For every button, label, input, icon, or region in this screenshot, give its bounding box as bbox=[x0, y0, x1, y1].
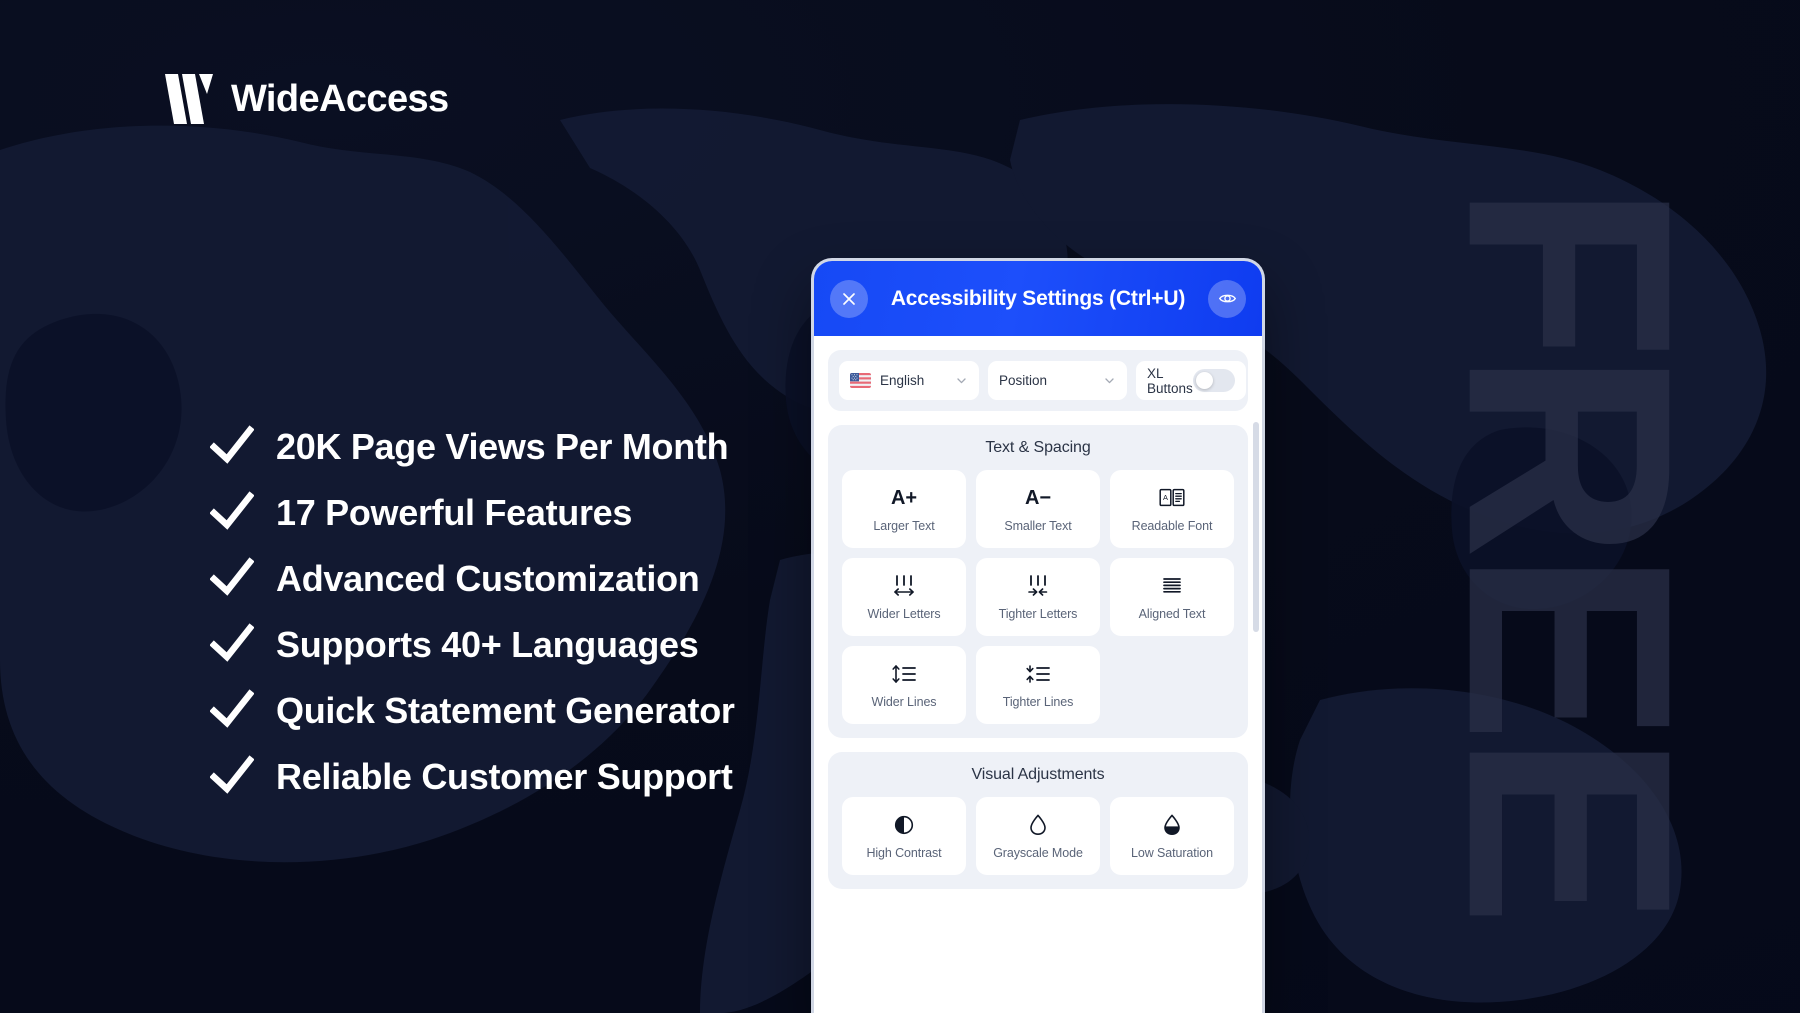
wider-letters-icon bbox=[891, 574, 917, 598]
grayscale-mode-icon bbox=[1028, 813, 1048, 837]
list-item: Reliable Customer Support bbox=[210, 753, 735, 801]
feature-label: Supports 40+ Languages bbox=[276, 624, 699, 666]
list-item: Advanced Customization bbox=[210, 555, 735, 603]
feature-label: Quick Statement Generator bbox=[276, 690, 735, 732]
tighter-lines-icon bbox=[1024, 662, 1052, 686]
tile-low-saturation[interactable]: Low Saturation bbox=[1110, 797, 1234, 875]
widget-toolbar: English Position bbox=[828, 350, 1248, 411]
tile-aligned-text[interactable]: Aligned Text bbox=[1110, 558, 1234, 636]
tile-label: Tighter Letters bbox=[999, 607, 1078, 621]
feature-label: Advanced Customization bbox=[276, 558, 699, 600]
section-title: Visual Adjustments bbox=[842, 766, 1234, 784]
check-icon bbox=[210, 425, 254, 470]
tile-label: Readable Font bbox=[1132, 519, 1213, 533]
high-contrast-icon bbox=[893, 813, 915, 837]
svg-text:A: A bbox=[1163, 493, 1168, 502]
close-icon[interactable] bbox=[830, 280, 868, 318]
free-watermark-text: FREE bbox=[1425, 183, 1715, 916]
tile-wider-letters[interactable]: Wider Letters bbox=[842, 558, 966, 636]
feature-label: Reliable Customer Support bbox=[276, 756, 733, 798]
tile-label: Aligned Text bbox=[1139, 607, 1206, 621]
widget-header: Accessibility Settings (Ctrl+U) bbox=[814, 261, 1262, 336]
position-value: Position bbox=[999, 373, 1103, 388]
wider-lines-icon bbox=[890, 662, 918, 686]
brand-lockup: WideAccess bbox=[165, 74, 449, 124]
widget-title: Accessibility Settings (Ctrl+U) bbox=[868, 287, 1208, 311]
tile-label: Wider Lines bbox=[872, 695, 937, 709]
check-icon bbox=[210, 491, 254, 536]
xl-buttons-row[interactable]: XL Buttons bbox=[1136, 361, 1246, 400]
tile-wider-lines[interactable]: Wider Lines bbox=[842, 646, 966, 724]
check-icon bbox=[210, 755, 254, 800]
xl-buttons-toggle[interactable] bbox=[1193, 369, 1235, 392]
language-value: English bbox=[880, 373, 946, 388]
widget-scrollbar[interactable] bbox=[1253, 422, 1259, 1013]
tile-label: Low Saturation bbox=[1131, 846, 1213, 860]
tile-high-contrast[interactable]: High Contrast bbox=[842, 797, 966, 875]
section-visual-adjustments: Visual Adjustments High Contrast bbox=[828, 752, 1248, 889]
accessibility-widget: Accessibility Settings (Ctrl+U) bbox=[814, 261, 1262, 1013]
language-selector[interactable]: English bbox=[839, 361, 979, 400]
tile-label: Grayscale Mode bbox=[993, 846, 1083, 860]
us-flag-icon bbox=[850, 373, 871, 388]
larger-text-icon: A+ bbox=[891, 486, 917, 510]
list-item: 20K Page Views Per Month bbox=[210, 423, 735, 471]
xl-buttons-label: XL Buttons bbox=[1147, 366, 1193, 396]
feature-label: 17 Powerful Features bbox=[276, 492, 632, 534]
aligned-text-icon bbox=[1160, 574, 1184, 598]
position-selector[interactable]: Position bbox=[988, 361, 1127, 400]
section-text-spacing: Text & Spacing A+ Larger Text A− Smaller… bbox=[828, 425, 1248, 738]
tile-grid-visual-adjustments: High Contrast Grayscale Mode bbox=[842, 797, 1234, 875]
tile-smaller-text[interactable]: A− Smaller Text bbox=[976, 470, 1100, 548]
tile-label: Tighter Lines bbox=[1003, 695, 1074, 709]
tile-larger-text[interactable]: A+ Larger Text bbox=[842, 470, 966, 548]
smaller-text-icon: A− bbox=[1025, 486, 1051, 510]
eye-icon[interactable] bbox=[1208, 280, 1246, 318]
tile-tighter-lines[interactable]: Tighter Lines bbox=[976, 646, 1100, 724]
list-item: Supports 40+ Languages bbox=[210, 621, 735, 669]
wideaccess-logo-icon bbox=[165, 74, 213, 124]
tile-label: High Contrast bbox=[866, 846, 941, 860]
chevron-down-icon bbox=[955, 374, 968, 387]
smaller-text-glyph: A− bbox=[1025, 488, 1051, 508]
tile-empty-slot bbox=[1110, 646, 1234, 724]
low-saturation-icon bbox=[1162, 813, 1182, 837]
larger-text-glyph: A+ bbox=[891, 488, 917, 508]
tile-label: Larger Text bbox=[873, 519, 934, 533]
tile-grid-text-spacing: A+ Larger Text A− Smaller Text bbox=[842, 470, 1234, 724]
tile-label: Smaller Text bbox=[1004, 519, 1071, 533]
widget-body: English Position bbox=[814, 336, 1262, 1013]
tile-tighter-letters[interactable]: Tighter Letters bbox=[976, 558, 1100, 636]
feature-list: 20K Page Views Per Month 17 Powerful Fea… bbox=[210, 423, 735, 801]
promo-banner: FREE WideAccess 20K Page Views Per Month bbox=[0, 0, 1800, 1013]
check-icon bbox=[210, 623, 254, 668]
feature-label: 20K Page Views Per Month bbox=[276, 426, 728, 468]
list-item: 17 Powerful Features bbox=[210, 489, 735, 537]
tile-label: Wider Letters bbox=[867, 607, 940, 621]
check-icon bbox=[210, 557, 254, 602]
open-book-icon: A bbox=[1159, 486, 1185, 510]
tighter-letters-icon bbox=[1025, 574, 1051, 598]
section-title: Text & Spacing bbox=[842, 439, 1234, 457]
tile-grayscale-mode[interactable]: Grayscale Mode bbox=[976, 797, 1100, 875]
free-watermark: FREE bbox=[1250, 170, 1800, 930]
tile-readable-font[interactable]: A Readable Font bbox=[1110, 470, 1234, 548]
brand-name: WideAccess bbox=[231, 78, 449, 121]
chevron-down-icon bbox=[1103, 374, 1116, 387]
list-item: Quick Statement Generator bbox=[210, 687, 735, 735]
check-icon bbox=[210, 689, 254, 734]
